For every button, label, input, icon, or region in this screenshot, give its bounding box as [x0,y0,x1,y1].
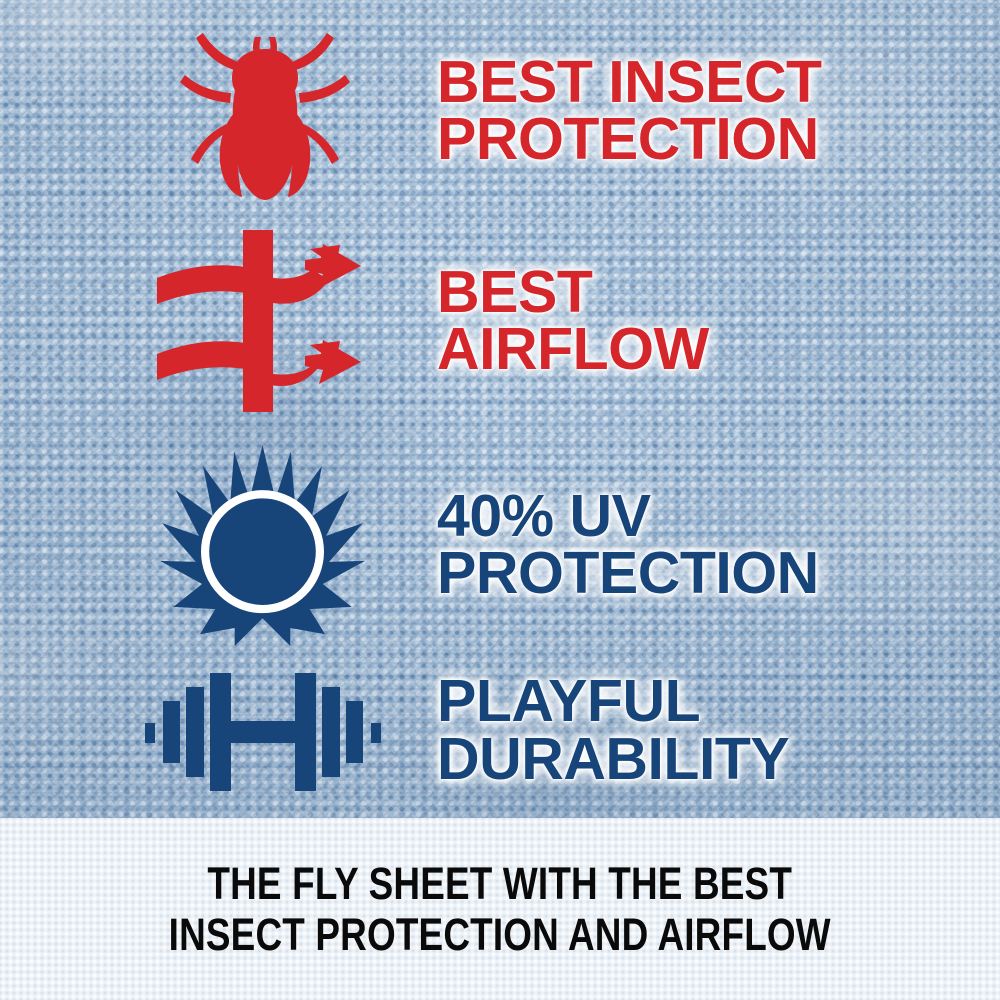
dumbbell-icon [143,661,383,801]
feature-row-uv-protection: 40% UV PROTECTION [150,440,870,650]
icon-slot-uv [150,443,375,648]
caption-bar: THE FLY SHEET WITH THE BEST INSECT PROTE… [0,818,1000,1000]
feature-label-uv-protection: 40% UV PROTECTION [437,488,819,602]
infographic-poster: BEST INSECT PROTECTION [0,0,1000,1000]
fly-icon [163,19,363,204]
feature-label-durability: PLAYFUL DURABILITY [437,673,789,787]
icon-slot-durability [150,648,375,813]
icon-slot-airflow [150,229,375,414]
feature-row-durability: PLAYFUL DURABILITY [150,648,870,813]
airflow-through-barrier-icon [155,226,370,416]
feature-label-airflow: BEST AIRFLOW [437,264,709,378]
sun-icon [160,443,365,648]
icon-slot-insect [150,19,375,204]
feature-label-insect-protection: BEST INSECT PROTECTION [437,54,822,168]
caption-headline: THE FLY SHEET WITH THE BEST INSECT PROTE… [169,858,831,961]
feature-row-insect-protection: BEST INSECT PROTECTION [150,16,870,206]
feature-row-airflow: BEST AIRFLOW [150,226,870,416]
